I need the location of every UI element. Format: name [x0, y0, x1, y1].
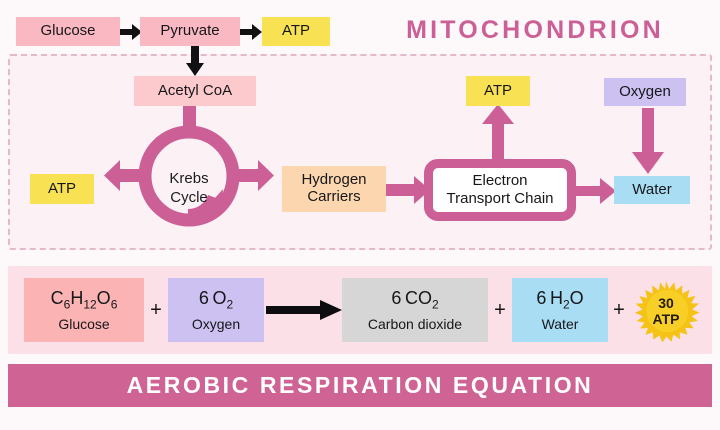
- pyruvate-label: Pyruvate: [160, 23, 219, 40]
- water-box: Water: [614, 176, 690, 204]
- atp-yield-count: 30: [658, 295, 674, 311]
- equation-carbon-dioxide-formula: 6 CO2: [391, 288, 438, 312]
- equation-oxygen-name: Oxygen: [192, 316, 240, 332]
- equation-carbon-dioxide-box: 6 CO2 Carbon dioxide: [342, 278, 488, 342]
- equation-oxygen-formula: 6 O2: [199, 288, 233, 312]
- krebs-label-line1: Krebs: [169, 170, 208, 189]
- arrow-etc-to-water: [574, 178, 616, 204]
- equation-carbon-dioxide-name: Carbon dioxide: [368, 316, 462, 332]
- glucose-label: Glucose: [40, 23, 95, 40]
- arrow-etc-to-atp: [482, 104, 514, 162]
- equation-water-name: Water: [542, 316, 579, 332]
- krebs-label-line2: Cycle: [170, 189, 208, 208]
- etc-label-line1: Electron: [472, 172, 527, 190]
- equation-oxygen-box: 6 O2 Oxygen: [168, 278, 264, 342]
- diagram-canvas: MITOCHONDRION Glucose Pyruvate ATP Acety…: [0, 0, 720, 430]
- acetyl-coa-box: Acetyl CoA: [134, 76, 256, 106]
- arrow-pyruvate-to-acetyl-coa: [186, 46, 204, 76]
- water-label: Water: [632, 182, 671, 199]
- krebs-cycle-label: Krebs Cycle: [139, 168, 239, 210]
- equation-glucose-name: Glucose: [58, 316, 109, 332]
- hydrogen-carriers-line2: Carriers: [307, 189, 360, 206]
- arrow-glucose-to-pyruvate: [120, 24, 142, 40]
- electron-transport-chain-box: Electron Transport Chain: [424, 159, 576, 221]
- oxygen-label: Oxygen: [619, 84, 671, 101]
- equation-water-box: 6 H2O Water: [512, 278, 608, 342]
- glucose-box: Glucose: [16, 17, 120, 46]
- hydrogen-carriers-box: Hydrogen Carriers: [282, 166, 386, 212]
- equation-banner: AEROBIC RESPIRATION EQUATION: [8, 364, 712, 407]
- arrow-pyruvate-to-atp: [240, 24, 262, 40]
- pyruvate-box: Pyruvate: [140, 17, 240, 46]
- arrow-oxygen-to-water: [632, 108, 664, 174]
- equation-banner-text: AEROBIC RESPIRATION EQUATION: [127, 372, 594, 399]
- equation-glucose-formula: C6H12O6: [51, 288, 118, 312]
- equation-plus-2: +: [488, 298, 512, 322]
- atp-glycolysis-label: ATP: [282, 23, 310, 40]
- oxygen-box: Oxygen: [604, 78, 686, 106]
- equation-yields-arrow: [266, 300, 342, 320]
- atp-yield-unit: ATP: [653, 311, 680, 327]
- atp-etc-box: ATP: [466, 76, 530, 106]
- equation-water-formula: 6 H2O: [536, 288, 583, 312]
- hydrogen-carriers-line1: Hydrogen: [301, 172, 366, 189]
- mitochondrion-label: MITOCHONDRION: [390, 14, 680, 46]
- equation-plus-1: +: [144, 298, 168, 322]
- equation-glucose-box: C6H12O6 Glucose: [24, 278, 144, 342]
- acetyl-coa-label: Acetyl CoA: [158, 83, 232, 100]
- atp-krebs-label: ATP: [48, 181, 76, 198]
- atp-yield-label: 30 ATP: [630, 280, 702, 342]
- atp-etc-label: ATP: [484, 83, 512, 100]
- atp-krebs-box: ATP: [30, 174, 94, 204]
- atp-glycolysis-box: ATP: [262, 17, 330, 46]
- etc-label-line2: Transport Chain: [447, 190, 554, 208]
- equation-plus-3: +: [608, 298, 630, 322]
